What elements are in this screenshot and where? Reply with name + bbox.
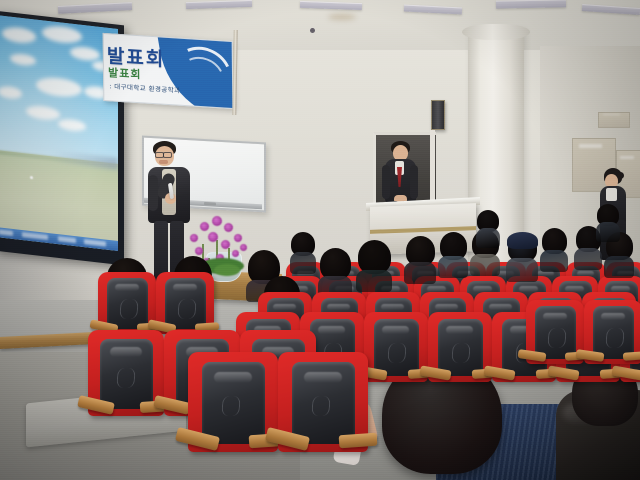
seat-shell [593, 306, 634, 358]
seat-shell [374, 319, 419, 376]
auditorium-seat[interactable] [428, 312, 492, 382]
auditorium-seat[interactable] [188, 352, 278, 452]
audience-member [596, 204, 620, 234]
auditorium-seat[interactable] [364, 312, 428, 382]
shoulders [574, 248, 602, 270]
audience-member [318, 248, 352, 290]
seat-emblem [119, 299, 138, 319]
seat-shell [535, 306, 576, 358]
seat-shell [107, 278, 148, 329]
shoulders [604, 256, 634, 278]
head [358, 240, 391, 274]
auditorium-seat[interactable] [156, 272, 214, 334]
audience-member [476, 210, 500, 240]
audience-member [540, 228, 568, 264]
shoulders [476, 228, 500, 248]
audience-member [438, 232, 468, 270]
seat-armrest [339, 433, 378, 449]
seat-emblem [221, 396, 240, 416]
auditorium-seat[interactable] [88, 330, 164, 416]
shoulders [596, 222, 620, 242]
shoulders [404, 262, 436, 284]
shoulders [356, 270, 392, 292]
seat-shell [292, 362, 355, 444]
shoulders [438, 256, 468, 278]
seat-emblem [311, 396, 330, 416]
shoulders [290, 252, 316, 274]
seat-shell [100, 339, 153, 410]
seat-emblem [452, 343, 471, 363]
shoulders [470, 254, 500, 276]
baseball-cap-icon [507, 232, 538, 249]
audience-member [290, 232, 316, 266]
seat-emblem [547, 328, 566, 348]
seat-emblem [116, 368, 135, 388]
seat-emblem [177, 299, 196, 319]
shoulders [506, 258, 538, 282]
seat-shell [438, 319, 483, 376]
audience-member [356, 240, 392, 284]
auditorium-seat[interactable] [278, 352, 368, 452]
seat-emblem [388, 343, 407, 363]
audience-member [506, 234, 538, 274]
seat-emblem [605, 328, 624, 348]
auditorium-seat[interactable] [584, 300, 640, 364]
seat-shell [202, 362, 265, 444]
seat-shell [165, 278, 206, 329]
auditorium-photo: 발표회 발표회 : 대구대학교 환경공학과 [0, 0, 640, 480]
shoulders [540, 250, 568, 272]
audience-member [404, 236, 436, 276]
